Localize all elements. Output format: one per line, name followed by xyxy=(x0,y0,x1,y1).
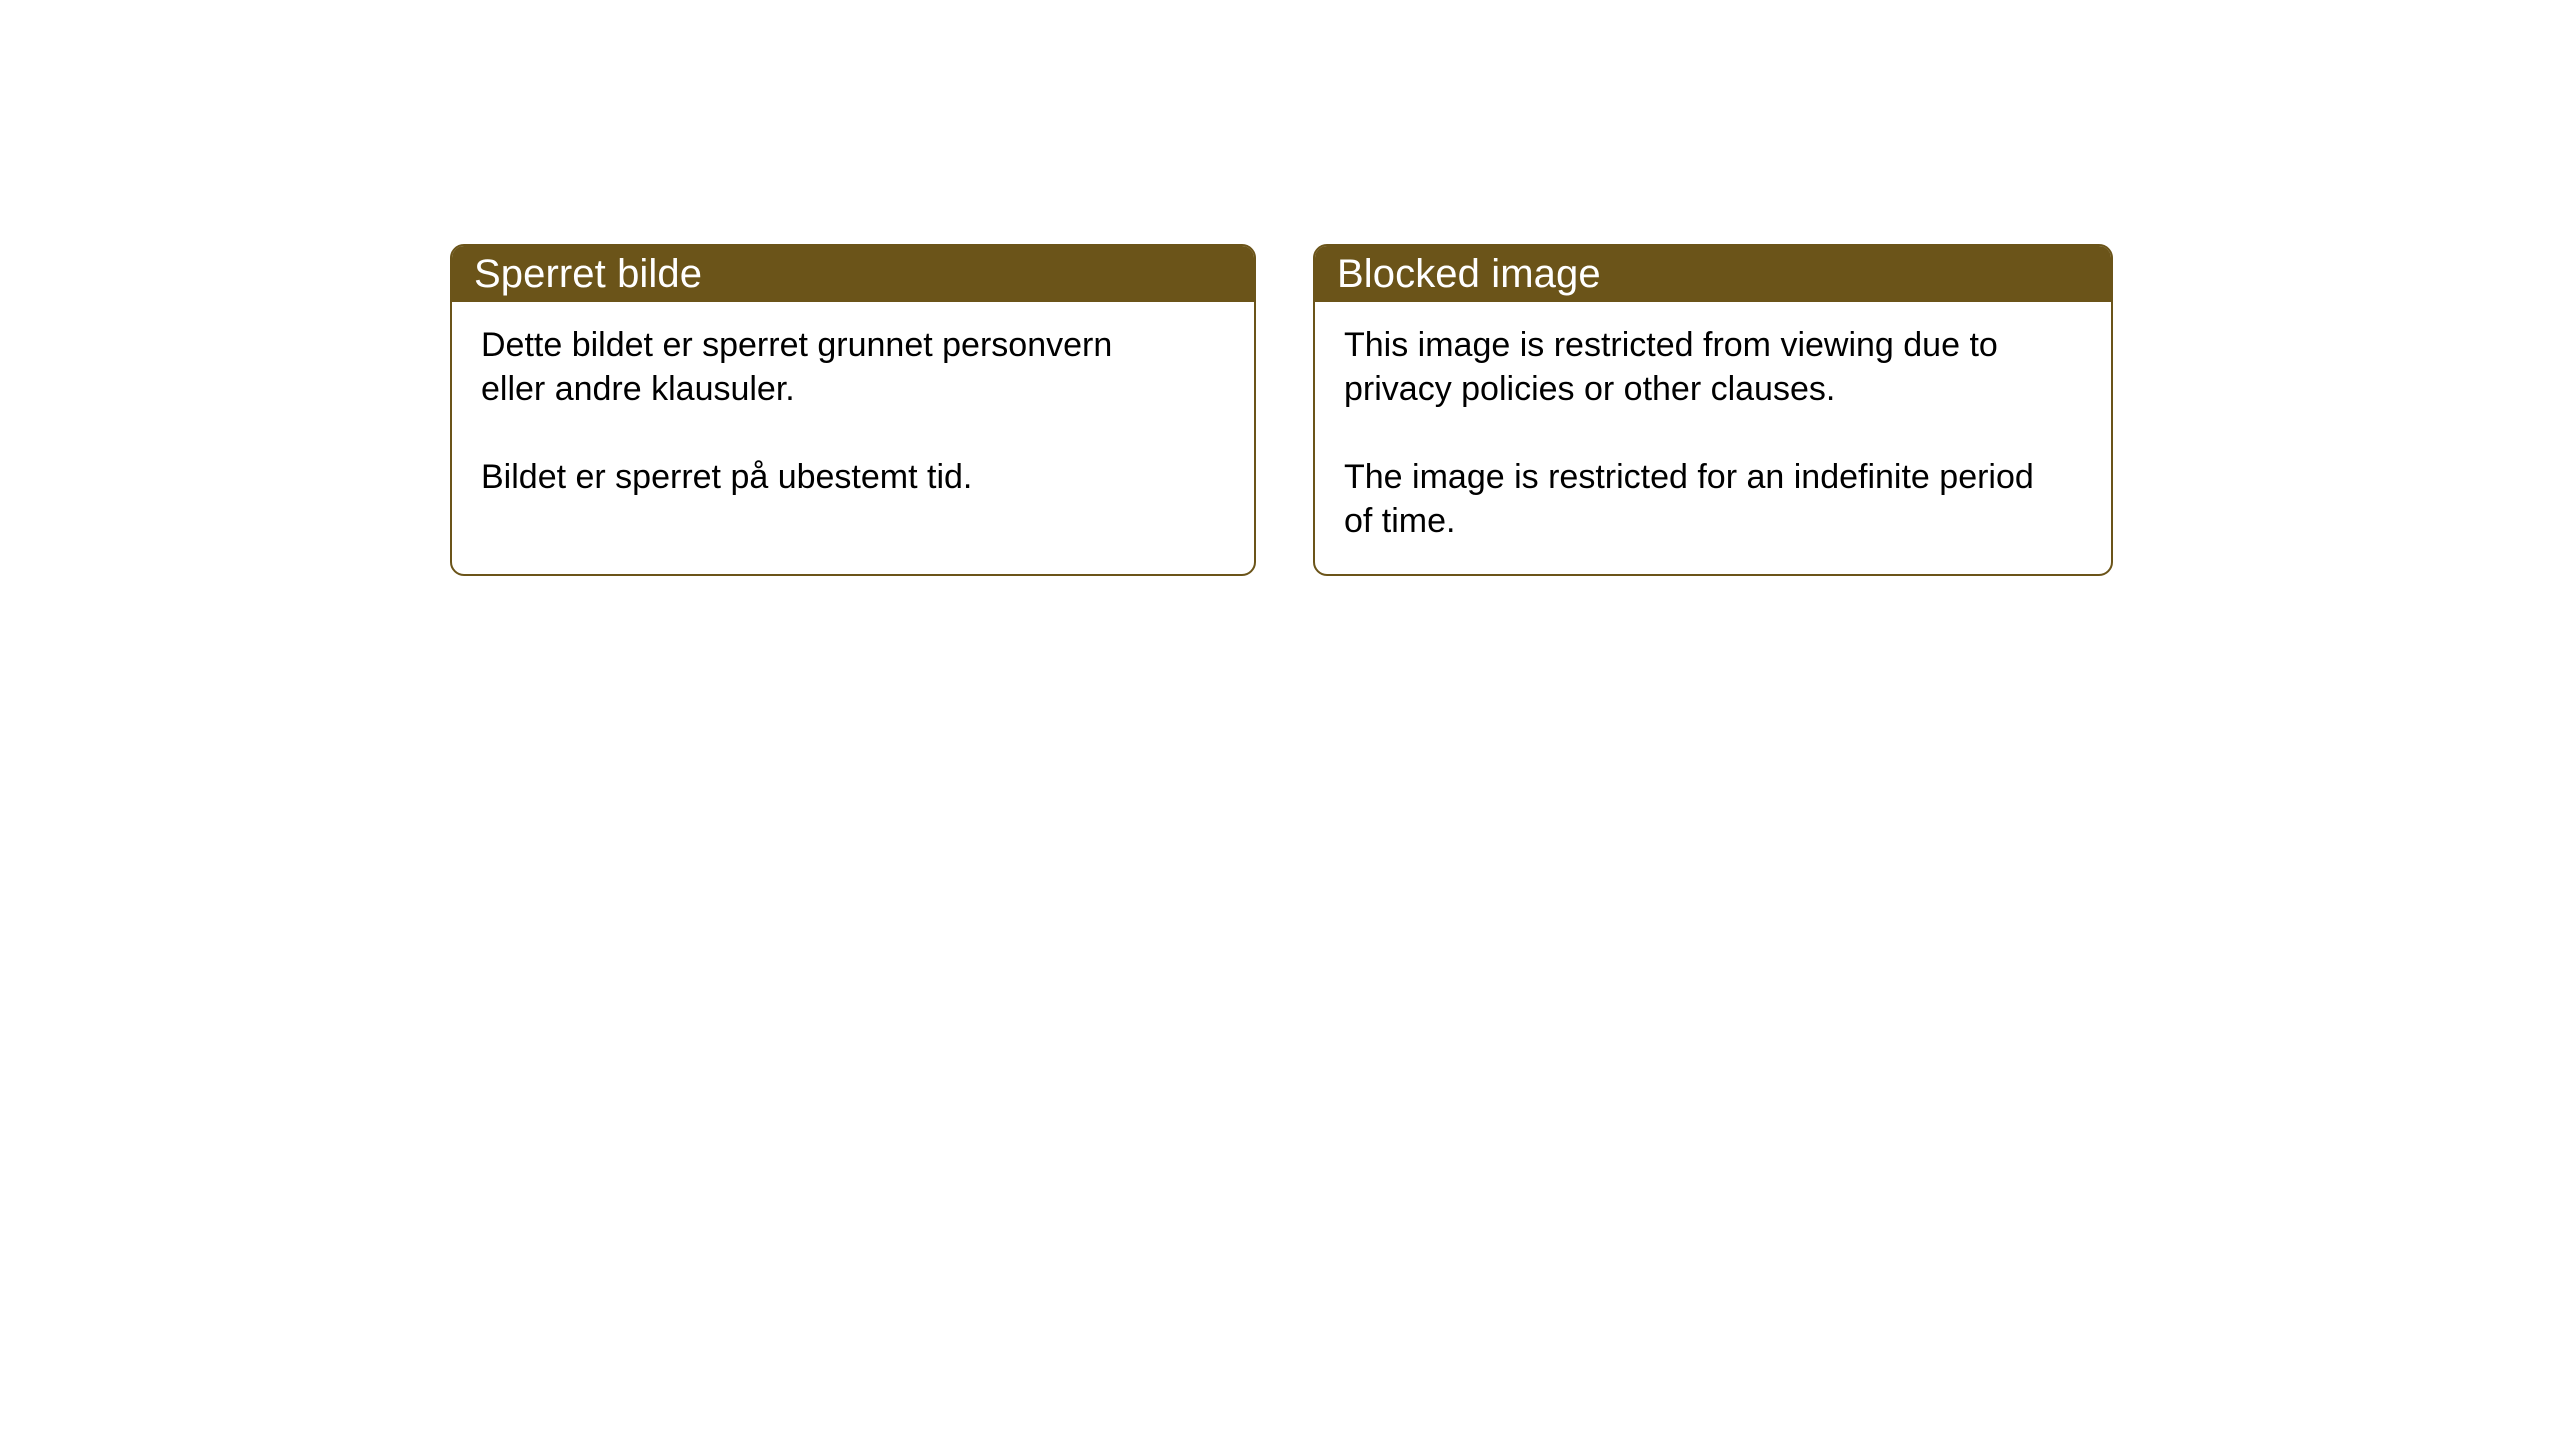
panel-header-english: Blocked image xyxy=(1314,245,2112,302)
paragraph-spacer xyxy=(1344,411,2087,455)
panel-body-norwegian: Dette bildet er sperret grunnet personve… xyxy=(452,302,1254,499)
blocked-image-notice-panel-english: Blocked image This image is restricted f… xyxy=(1313,244,2113,576)
panel-header-norwegian: Sperret bilde xyxy=(451,245,1255,302)
paragraph-spacer xyxy=(481,411,1230,455)
panel-body-english: This image is restricted from viewing du… xyxy=(1315,302,2111,543)
notice-paragraph-secondary-norwegian: Bildet er sperret på ubestemt tid. xyxy=(481,455,1230,499)
panel-title-english: Blocked image xyxy=(1337,252,1601,296)
notice-paragraph-secondary-english: The image is restricted for an indefinit… xyxy=(1344,455,2087,543)
page-canvas: Sperret bilde Dette bildet er sperret gr… xyxy=(0,0,2560,1440)
blocked-image-notice-panel-norwegian: Sperret bilde Dette bildet er sperret gr… xyxy=(450,244,1256,576)
notice-paragraph-primary-english: This image is restricted from viewing du… xyxy=(1344,323,2087,411)
panel-title-norwegian: Sperret bilde xyxy=(474,252,702,296)
notice-paragraph-primary-norwegian: Dette bildet er sperret grunnet personve… xyxy=(481,323,1230,411)
